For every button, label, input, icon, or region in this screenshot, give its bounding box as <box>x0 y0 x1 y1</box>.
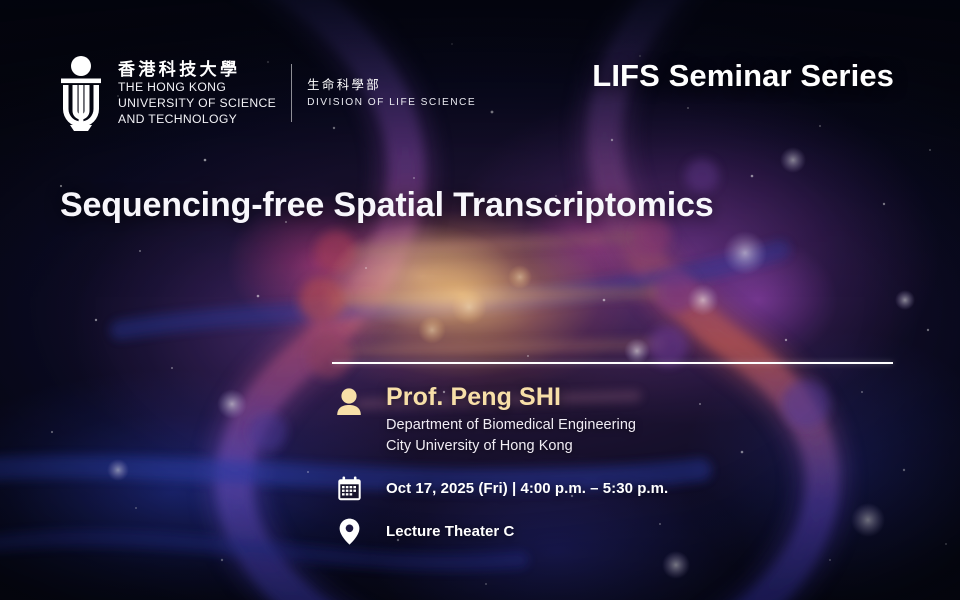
university-name-en3: AND TECHNOLOGY <box>118 112 276 128</box>
speaker-department: Department of Biomedical Engineering <box>386 415 636 436</box>
university-name-en1: THE HONG KONG <box>118 80 276 96</box>
calendar-icon <box>332 476 366 501</box>
speaker-row: Prof. Peng SHI Department of Biomedical … <box>332 383 894 456</box>
logo-divider <box>291 64 292 122</box>
speaker-institution: City University of Hong Kong <box>386 436 636 457</box>
venue-row: Lecture Theater C <box>332 518 894 545</box>
seminar-poster: 香港科技大學 THE HONG KONG UNIVERSITY OF SCIEN… <box>0 0 960 600</box>
speaker-name: Prof. Peng SHI <box>386 383 636 411</box>
details-divider <box>332 362 893 364</box>
datetime-text: Oct 17, 2025 (Fri) | 4:00 p.m. – 5:30 p.… <box>386 480 668 497</box>
location-pin-icon <box>332 518 366 545</box>
venue-text: Lecture Theater C <box>386 523 514 540</box>
series-title: LIFS Seminar Series <box>592 58 894 94</box>
datetime-info: Oct 17, 2025 (Fri) | 4:00 p.m. – 5:30 p.… <box>366 480 668 497</box>
division-name-en: DIVISION OF LIFE SCIENCE <box>307 95 476 110</box>
talk-title: Sequencing-free Spatial Transcriptomics <box>60 186 714 225</box>
person-icon <box>332 383 366 416</box>
speaker-info: Prof. Peng SHI Department of Biomedical … <box>366 383 636 456</box>
datetime-row: Oct 17, 2025 (Fri) | 4:00 p.m. – 5:30 p.… <box>332 476 894 501</box>
venue-info: Lecture Theater C <box>366 523 514 540</box>
university-name-zh: 香港科技大學 <box>118 59 276 80</box>
division-name-zh: 生命科學部 <box>307 76 476 95</box>
university-name-block: 香港科技大學 THE HONG KONG UNIVERSITY OF SCIEN… <box>118 59 276 128</box>
hkust-logo-lockup: 香港科技大學 THE HONG KONG UNIVERSITY OF SCIEN… <box>58 55 476 131</box>
hkust-logo-icon <box>58 55 104 131</box>
university-name-en2: UNIVERSITY OF SCIENCE <box>118 96 276 112</box>
details-panel: Prof. Peng SHI Department of Biomedical … <box>332 362 894 545</box>
division-name-block: 生命科學部 DIVISION OF LIFE SCIENCE <box>307 76 476 110</box>
